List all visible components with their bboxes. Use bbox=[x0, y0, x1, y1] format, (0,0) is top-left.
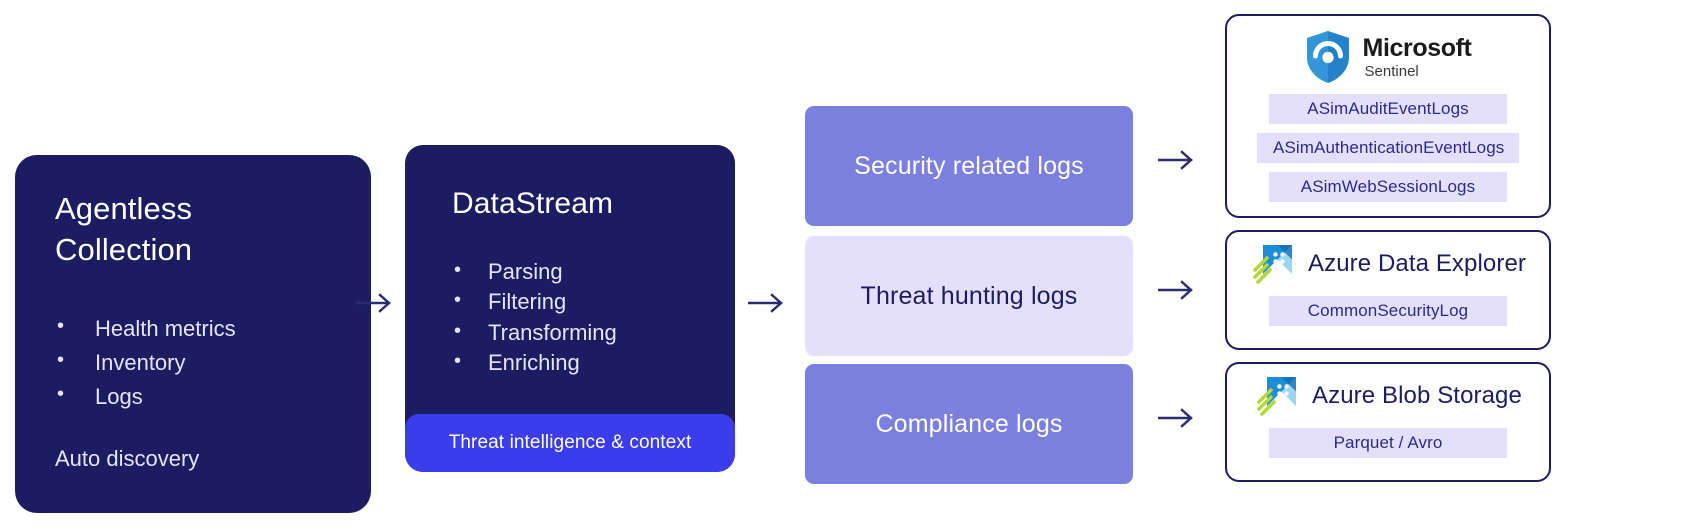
azure-blob-storage-icon bbox=[1254, 373, 1300, 419]
list-item: Transforming bbox=[452, 320, 735, 346]
list-item: Enriching bbox=[452, 350, 735, 376]
destination-card-azure-data-explorer: Azure Data Explorer CommonSecurityLog bbox=[1225, 230, 1551, 350]
list-item: Parsing bbox=[452, 259, 735, 285]
auto-discovery-note: Auto discovery bbox=[55, 445, 331, 474]
microsoft-sentinel-wordmark: Microsoft Sentinel bbox=[1363, 36, 1472, 79]
log-category-label: Security related logs bbox=[854, 152, 1084, 181]
log-category-threat-hunting: Threat hunting logs bbox=[805, 236, 1133, 356]
arrow-right-icon bbox=[1158, 147, 1198, 173]
datastream-title: DataStream bbox=[452, 187, 735, 221]
agentless-collection-bullets: Health metrics Inventory Logs bbox=[55, 315, 331, 411]
log-category-compliance: Compliance logs bbox=[805, 364, 1133, 484]
destination-name: Azure Data Explorer bbox=[1308, 250, 1526, 278]
destination-subname: Sentinel bbox=[1365, 64, 1472, 79]
destination-tag: CommonSecurityLog bbox=[1269, 296, 1507, 326]
destination-tag: ASimAuditEventLogs bbox=[1269, 94, 1507, 124]
destination-tag: Parquet / Avro bbox=[1269, 428, 1507, 458]
arrow-right-icon bbox=[1158, 277, 1198, 303]
log-category-security: Security related logs bbox=[805, 106, 1133, 226]
datastream-bullets: Parsing Filtering Transforming Enriching bbox=[452, 259, 735, 377]
destination-tags: Parquet / Avro bbox=[1227, 428, 1549, 458]
list-item: Filtering bbox=[452, 289, 735, 315]
destination-tags: CommonSecurityLog bbox=[1227, 296, 1549, 326]
list-item: Health metrics bbox=[55, 315, 331, 343]
microsoft-sentinel-shield-icon bbox=[1305, 30, 1351, 84]
agentless-collection-card: Agentless Collection Health metrics Inve… bbox=[15, 155, 371, 513]
threat-intelligence-banner: Threat intelligence & context bbox=[405, 414, 735, 472]
list-item: Inventory bbox=[55, 349, 331, 377]
destination-card-microsoft-sentinel: Microsoft Sentinel ASimAuditEventLogs AS… bbox=[1225, 14, 1551, 218]
datastream-card: DataStream Parsing Filtering Transformin… bbox=[405, 145, 735, 472]
destination-header: Microsoft Sentinel bbox=[1227, 16, 1549, 94]
destination-name: Azure Blob Storage bbox=[1312, 382, 1522, 410]
log-category-label: Threat hunting logs bbox=[861, 282, 1078, 311]
destination-card-azure-blob-storage: Azure Blob Storage Parquet / Avro bbox=[1225, 362, 1551, 482]
arrow-right-icon bbox=[356, 290, 396, 316]
arrow-right-icon bbox=[748, 290, 788, 316]
pipeline-diagram: Agentless Collection Health metrics Inve… bbox=[0, 0, 1699, 532]
datastream-body: DataStream Parsing Filtering Transformin… bbox=[405, 145, 735, 377]
arrow-right-icon bbox=[1158, 405, 1198, 431]
destination-tags: ASimAuditEventLogs ASimAuthenticationEve… bbox=[1227, 94, 1549, 202]
destination-tag: ASimAuthenticationEventLogs bbox=[1257, 133, 1519, 163]
destination-header: Azure Data Explorer bbox=[1227, 232, 1549, 296]
destination-tag: ASimWebSessionLogs bbox=[1269, 172, 1507, 202]
destination-header: Azure Blob Storage bbox=[1227, 364, 1549, 428]
list-item: Logs bbox=[55, 383, 331, 411]
azure-data-explorer-icon bbox=[1250, 241, 1296, 287]
log-category-label: Compliance logs bbox=[875, 410, 1062, 439]
destination-name: Microsoft bbox=[1363, 36, 1472, 61]
agentless-collection-title: Agentless Collection bbox=[55, 189, 331, 271]
threat-intelligence-banner-label: Threat intelligence & context bbox=[449, 432, 692, 454]
